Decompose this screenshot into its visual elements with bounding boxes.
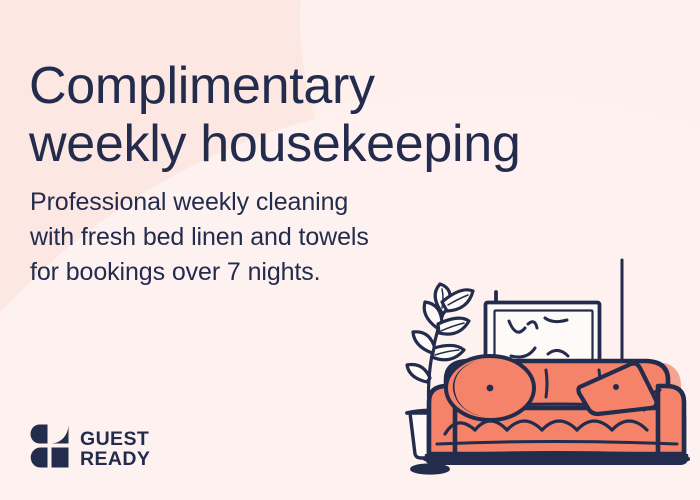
brand-wordmark-line-1: GUEST [80,429,150,449]
brand-wordmark: GUEST READY [80,429,150,469]
round-cushion-icon [446,356,534,420]
page-title: Complimentary weekly housekeeping [29,57,649,173]
guestready-logo-icon [30,424,69,473]
promo-banner: Complimentary weekly housekeeping Profes… [0,0,700,500]
brand-wordmark-line-2: READY [80,449,150,469]
living-room-illustration [385,258,700,500]
brand-logo: GUEST READY [30,424,150,473]
